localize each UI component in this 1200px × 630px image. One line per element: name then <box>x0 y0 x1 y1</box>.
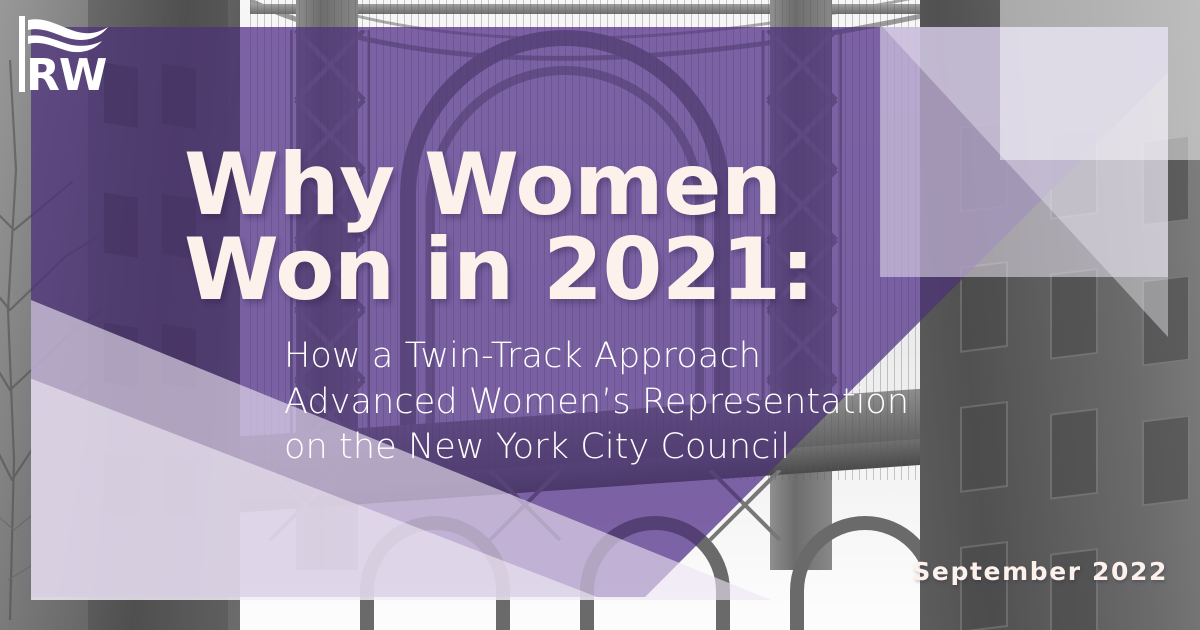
publication-date: September 2022 <box>912 557 1168 586</box>
report-cover: RW Why Women Won in 2021: How a Twin-Tra… <box>0 0 1200 630</box>
subtitle-line-3: on the New York City Council <box>284 425 1074 471</box>
logo-wordmark: RW <box>26 50 107 94</box>
subtitle-line-2: Advanced Women’s Representation <box>284 380 1074 426</box>
report-title: Why Women Won in 2021: <box>184 143 974 313</box>
light-band-top-right-corner <box>1000 0 1200 160</box>
title-line-2: Won in 2021: <box>184 228 974 313</box>
report-subtitle: How a Twin-Track Approach Advanced Women… <box>284 334 1074 471</box>
subtitle-line-1: How a Twin-Track Approach <box>284 334 1074 380</box>
rw-flag-logo[interactable]: RW <box>16 14 136 94</box>
